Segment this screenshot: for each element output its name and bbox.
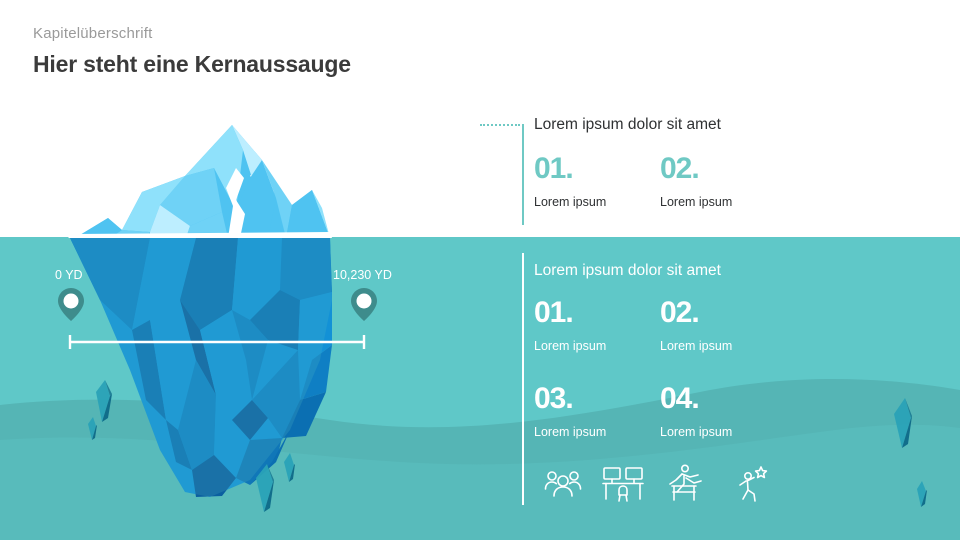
- dotted-connector: [480, 124, 520, 126]
- panel-top-item-2[interactable]: 02. Lorem ipsum: [660, 154, 732, 210]
- panel-top-item-2-number: 02.: [660, 154, 732, 184]
- panel-bottom-icon-row: [532, 462, 852, 506]
- panel-top-item-1-caption: Lorem ipsum: [534, 195, 606, 210]
- info-panel-bottom: Lorem ipsum dolor sit amet 01. Lorem ips…: [480, 250, 950, 512]
- panel-bottom-item-4-caption: Lorem ipsum: [660, 425, 732, 440]
- info-panel-top: Lorem ipsum dolor sit amet 01. Lorem ips…: [480, 118, 950, 236]
- panel-bottom-title: Lorem ipsum dolor sit amet: [534, 262, 721, 281]
- panel-bottom-item-3[interactable]: 03. Lorem ipsum: [534, 384, 606, 440]
- panel-top-item-1[interactable]: 01. Lorem ipsum: [534, 154, 606, 210]
- panel-bottom-item-2-caption: Lorem ipsum: [660, 339, 732, 354]
- panel-top-title: Lorem ipsum dolor sit amet: [534, 116, 721, 135]
- panel-bottom-item-3-number: 03.: [534, 384, 606, 414]
- measure-bar: [70, 335, 364, 349]
- panel-bottom-item-3-caption: Lorem ipsum: [534, 425, 606, 440]
- panel-top-rule: [522, 124, 524, 225]
- panel-bottom-item-4[interactable]: 04. Lorem ipsum: [660, 384, 732, 440]
- iceberg-scale-overlay: 0 YD 10,230 YD: [0, 0, 480, 540]
- panel-bottom-item-2[interactable]: 02. Lorem ipsum: [660, 298, 732, 354]
- person-reaching-star-icon[interactable]: [728, 462, 774, 506]
- panel-bottom-rule: [522, 253, 524, 505]
- panel-bottom-item-1[interactable]: 01. Lorem ipsum: [534, 298, 606, 354]
- hurdle-runner-icon[interactable]: [660, 462, 706, 506]
- panel-top-item-1-number: 01.: [534, 154, 606, 184]
- workstations-icon[interactable]: [600, 462, 646, 506]
- panel-bottom-item-1-number: 01.: [534, 298, 606, 328]
- people-group-icon[interactable]: [540, 462, 586, 506]
- panel-bottom-item-4-number: 04.: [660, 384, 732, 414]
- map-pin-icon: [58, 288, 84, 321]
- panel-bottom-item-2-number: 02.: [660, 298, 732, 328]
- panel-bottom-item-1-caption: Lorem ipsum: [534, 339, 606, 354]
- slide-canvas: Kapitelüberschrift Hier steht eine Kerna…: [0, 0, 960, 540]
- map-pin-icon: [351, 288, 377, 321]
- panel-top-item-2-caption: Lorem ipsum: [660, 195, 732, 210]
